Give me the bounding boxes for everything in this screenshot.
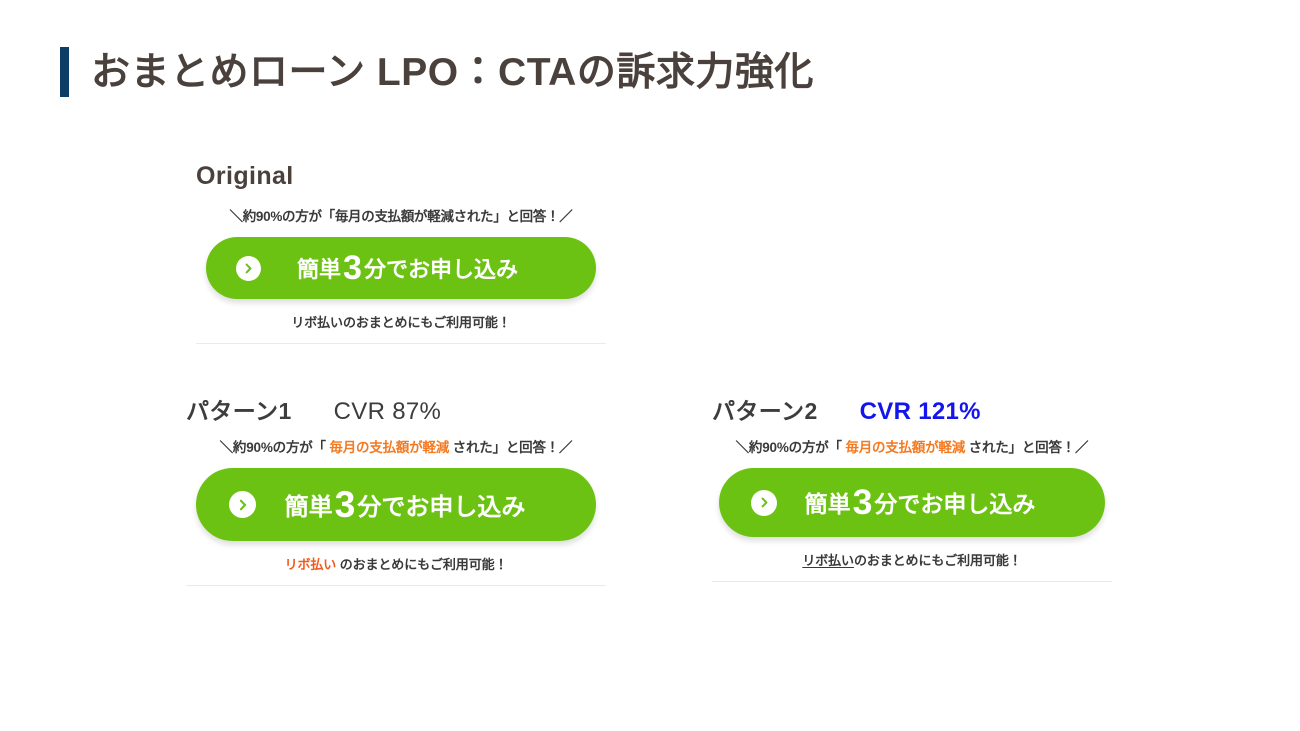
cta-caption-tail-original: 」と回答！／	[493, 209, 572, 224]
cta-subtext-rest-pattern2: のおまとめにもご利用可能！	[854, 553, 1022, 568]
cta-text-before-pattern1: 簡単	[285, 494, 333, 521]
cta-button-original[interactable]: 簡単3分でお申し込み	[206, 237, 596, 299]
variant-panel-pattern2: パターン2 CVR 121% ＼約90%の方が「 毎月の支払額が軽減 された」と…	[712, 392, 1112, 582]
variant-header-pattern2: パターン2 CVR 121%	[712, 392, 1112, 426]
cta-button-pattern1[interactable]: 簡単3分でお申し込み	[196, 468, 596, 541]
arrow-right-circle-icon	[751, 490, 777, 516]
cta-text-after-pattern1: 分でお申し込み	[357, 494, 525, 521]
variant-label-pattern2: パターン2	[712, 392, 818, 426]
cvr-metric-pattern2: CVR 121%	[860, 398, 981, 426]
cta-caption-lead-pattern1: ＼約90%の方が「	[220, 440, 330, 455]
cta-button-pattern2[interactable]: 簡単3分でお申し込み	[719, 468, 1105, 537]
cta-button-label-pattern1: 簡単3分でお申し込み	[256, 486, 596, 523]
cta-text-number-pattern1: 3	[333, 483, 358, 525]
cta-text-before-pattern2: 簡単	[805, 491, 851, 517]
variant-panel-pattern1: パターン1 CVR 87% ＼約90%の方が「 毎月の支払額が軽減 された」と回…	[186, 392, 606, 586]
cta-text-after-original: 分でお申し込み	[364, 257, 518, 282]
cta-button-label-original: 簡単3分でお申し込み	[261, 251, 596, 285]
cta-text-number-original: 3	[341, 249, 364, 287]
cta-caption-original: ＼約90%の方が「毎月の支払額が軽減された」と回答！／	[196, 209, 606, 225]
cta-text-after-pattern2: 分でお申し込み	[874, 491, 1035, 517]
cvr-metric-pattern1: CVR 87%	[334, 398, 441, 426]
cta-subtext-rest-pattern1: のおまとめにもご利用可能！	[336, 557, 507, 572]
cta-subtext-highlight-pattern2: リボ払い	[802, 553, 854, 568]
cta-text-before-original: 簡単	[297, 257, 341, 282]
cta-caption-mid-original: 毎月の支払額が軽減された	[335, 209, 493, 224]
page-title: おまとめローン LPO：CTAの訴求力強化	[91, 53, 814, 92]
cta-card-pattern2: ＼約90%の方が「 毎月の支払額が軽減 された」と回答！／ 簡単3分でお申し込み…	[712, 440, 1112, 582]
cta-caption-tail-pattern1: された」と回答！／	[449, 440, 572, 455]
cta-subtext-pattern1: リボ払い のおまとめにもご利用可能！	[186, 554, 606, 573]
cta-subtext-highlight-pattern1: リボ払い	[285, 557, 337, 572]
cta-subtext-rest-original: リボ払いのおまとめにもご利用可能！	[291, 315, 510, 330]
cta-caption-lead-original: ＼約90%の方が「	[230, 209, 335, 224]
cta-subtext-pattern2: リボ払いのおまとめにもご利用可能！	[712, 550, 1112, 569]
cta-subtext-original: リボ払いのおまとめにもご利用可能！	[196, 312, 606, 331]
cta-text-number-pattern2: 3	[851, 482, 875, 522]
variant-label-original: Original	[196, 162, 294, 191]
arrow-right-circle-icon	[229, 491, 256, 518]
page-title-row: おまとめローン LPO：CTAの訴求力強化	[60, 44, 814, 100]
variant-label-pattern1: パターン1	[186, 392, 292, 426]
cta-caption-tail-pattern2: された」と回答！／	[965, 440, 1088, 455]
cta-caption-pattern1: ＼約90%の方が「 毎月の支払額が軽減 された」と回答！／	[186, 440, 606, 456]
cta-caption-highlight-pattern2: 毎月の支払額が軽減	[845, 440, 965, 455]
cta-caption-highlight-pattern1: 毎月の支払額が軽減	[329, 440, 449, 455]
cta-caption-pattern2: ＼約90%の方が「 毎月の支払額が軽減 された」と回答！／	[712, 440, 1112, 456]
variant-header-original: Original	[196, 162, 606, 191]
cta-button-label-pattern2: 簡単3分でお申し込み	[777, 485, 1105, 521]
cta-caption-lead-pattern2: ＼約90%の方が「	[736, 440, 846, 455]
cta-card-original: ＼約90%の方が「毎月の支払額が軽減された」と回答！／ 簡単3分でお申し込み リ…	[196, 209, 606, 344]
arrow-right-circle-icon	[236, 256, 261, 281]
title-accent-bar	[60, 47, 69, 97]
variant-header-pattern1: パターン1 CVR 87%	[186, 392, 606, 426]
cta-card-pattern1: ＼約90%の方が「 毎月の支払額が軽減 された」と回答！／ 簡単3分でお申し込み…	[186, 440, 606, 586]
variant-panel-original: Original ＼約90%の方が「毎月の支払額が軽減された」と回答！／ 簡単3…	[196, 162, 606, 344]
